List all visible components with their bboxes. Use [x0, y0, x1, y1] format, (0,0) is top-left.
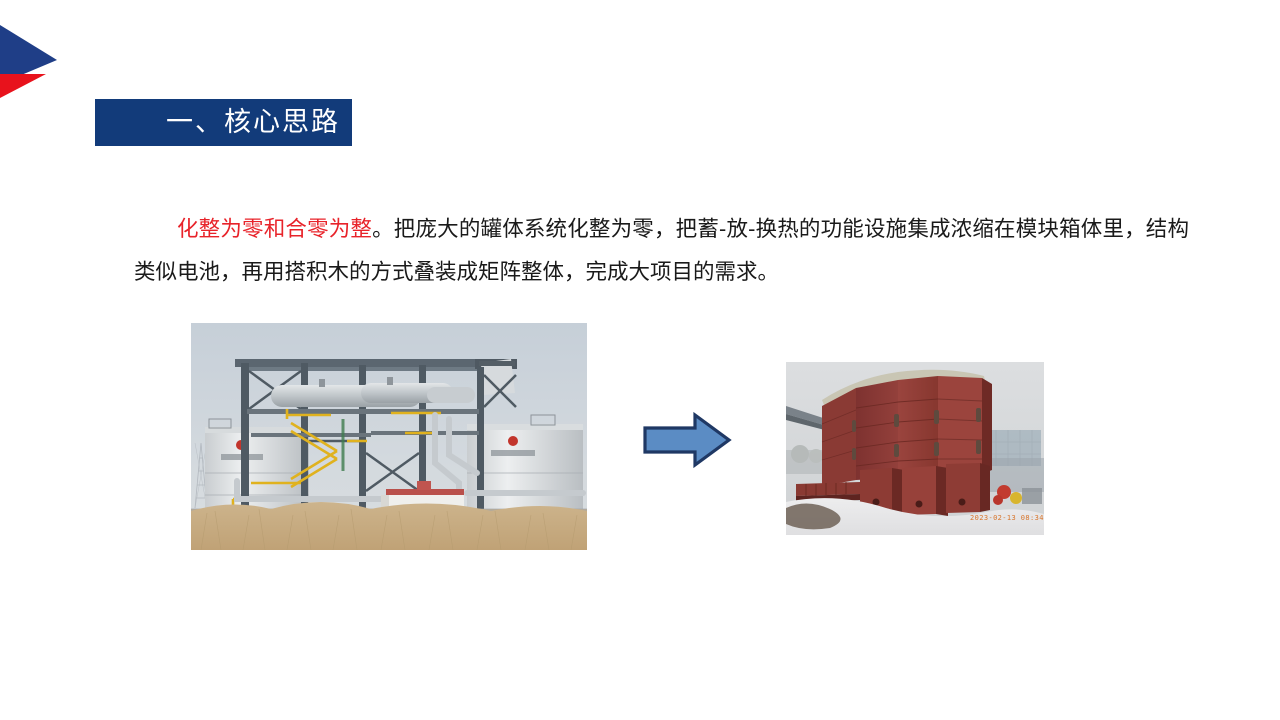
photo-tank-right — [467, 415, 583, 515]
photo-timestamp: 2023-02-13 08:34 — [970, 514, 1044, 522]
photo-industrial-plant — [191, 323, 587, 550]
photo2-module-3 — [898, 376, 938, 478]
photo2-module-4 — [938, 376, 982, 476]
body-paragraph: 化整为零和合零为整。把庞大的罐体系统化整为零，把蓄-放-换热的功能设施集成浓缩在… — [134, 208, 1189, 294]
section-title-banner: 一、核心思路 — [95, 99, 352, 146]
photo-reed-grass — [191, 502, 587, 550]
transition-arrow-icon — [641, 410, 733, 470]
corporate-logo — [0, 22, 62, 98]
photo2-module-2 — [856, 380, 898, 480]
page-title: 一、核心思路 — [166, 109, 340, 136]
photo-modular-boxes: 2023-02-13 08:34 — [786, 362, 1044, 535]
photo2-module-end-face — [982, 378, 992, 474]
highlight-phrase: 化整为零和合零为整 — [177, 217, 372, 242]
logo-red-triangle-icon — [0, 74, 46, 98]
